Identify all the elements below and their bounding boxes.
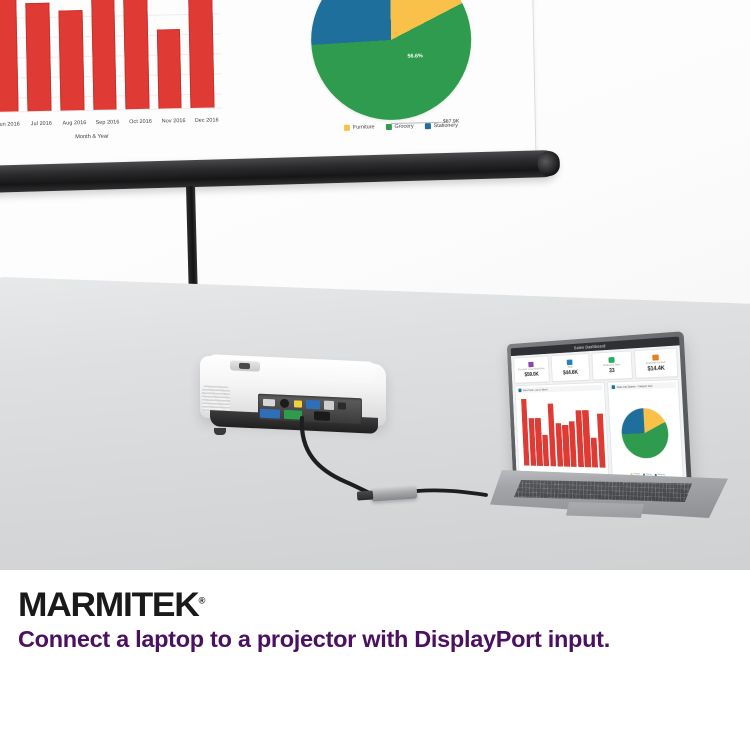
- legend-item: Furniture: [344, 124, 375, 131]
- bar-chart-bar: [123, 0, 149, 109]
- trend-x-label: Aug 2016: [571, 461, 577, 469]
- bar-chart-x-label: Jul 2016: [29, 121, 53, 127]
- pie-disc: [310, 0, 473, 122]
- projected-bar-chart: May 2016Jun 2016Jul 2016Aug 2016Sep 2016…: [0, 0, 223, 147]
- legend-swatch-icon: [344, 125, 350, 131]
- trend-x-label: Jan 2016: [524, 460, 530, 468]
- trend-x-label: Dec 2016: [599, 462, 606, 470]
- kpi-card[interactable]: Expenses Incurred$14.4K: [634, 347, 679, 378]
- laptop: Sales Dashboard This Month vs Last Month…: [470, 330, 732, 530]
- trend-x-label: Nov 2016: [592, 462, 598, 470]
- projector-foot: [214, 428, 226, 435]
- port-audio: [294, 400, 302, 407]
- kpi-label: Profit: [568, 366, 573, 369]
- expense-icon: [652, 354, 659, 360]
- sales-trend-panel-header: Sales Trend - Last 12 Month: [517, 385, 603, 393]
- legend-swatch-icon: [385, 124, 391, 130]
- trend-bar: [535, 418, 543, 466]
- bar-chart-x-label: Aug 2016: [62, 120, 86, 126]
- legend-label: Stationery: [434, 123, 458, 129]
- bar-chart-bar: [58, 10, 84, 111]
- kpi-label: Numbers of Sales: [603, 363, 620, 367]
- sales-trend-title: Sales Trend - Last 12 Month: [523, 388, 548, 391]
- trend-x-label: Feb 2016: [531, 460, 537, 468]
- category-pie-panel-header: Sales Last Quarter - Category wise: [610, 382, 676, 390]
- bar-chart-bar: [189, 0, 215, 108]
- bar-chart-bar: [26, 2, 52, 111]
- sales-dashboard: Sales Dashboard This Month vs Last Month…: [511, 337, 687, 483]
- port-power: [314, 411, 330, 421]
- bar-chart-x-label: Jun 2016: [0, 121, 20, 127]
- pie-chart-legend: FurnitureGroceryStationery: [305, 122, 497, 132]
- port-vga-2: [260, 409, 280, 419]
- projector-vent: [202, 385, 230, 412]
- pie-badge-icon: [612, 385, 616, 389]
- product-photo: May 2016Jun 2016Jul 2016Aug 2016Sep 2016…: [0, 0, 750, 570]
- sales-trend-bars: [521, 394, 606, 468]
- bar-chart-axis-title: Month & Year: [0, 131, 223, 142]
- port-video: [280, 399, 289, 408]
- category-pie-title: Sales Last Quarter - Category wise: [617, 384, 653, 388]
- marmitek-logo-text: MARMITEK: [18, 586, 199, 624]
- bar-chart-x-label: Oct 2016: [128, 119, 152, 125]
- marmitek-logo: MARMITEK®: [18, 586, 205, 625]
- kpi-value: $14.4K: [647, 365, 664, 373]
- bar-chart-bar: [91, 0, 117, 110]
- bar-chart-x-label: Sep 2016: [95, 119, 119, 125]
- port-usb: [338, 402, 346, 409]
- sales-trend-panel: Sales Trend - Last 12 Month Jan 2016Feb …: [515, 382, 610, 477]
- roller-end-cap: [537, 151, 560, 177]
- trend-x-label: Apr 2016: [544, 460, 550, 468]
- port-hdmi: [263, 399, 275, 407]
- dashboard-panels: Sales Trend - Last 12 Month Jan 2016Feb …: [515, 379, 684, 480]
- port-component: [284, 410, 302, 420]
- bar-chart-bar: [157, 30, 182, 109]
- adapter-connector-tip: [357, 490, 374, 500]
- trend-x-label: May 2016: [550, 461, 556, 469]
- category-pie-panel: Sales Last Quarter - Category wise Furni…: [607, 379, 684, 480]
- tagline: Connect a laptop to a projector with Dis…: [18, 626, 610, 653]
- pie-slice-label-grocery: 56.6%: [407, 53, 422, 59]
- legend-label: Grocery: [394, 123, 413, 129]
- kpi-card[interactable]: Numbers of Sales33: [591, 350, 633, 380]
- projected-pie-chart: 17.7% 56.6% 25.7% $40.0K $87.9K Furnitur…: [287, 0, 511, 156]
- kpi-value: $44.6K: [563, 369, 578, 376]
- product-scene: May 2016Jun 2016Jul 2016Aug 2016Sep 2016…: [0, 0, 750, 750]
- projector: [200, 356, 400, 450]
- registered-trademark-icon: ®: [199, 596, 206, 606]
- bar-chart-x-labels: May 2016Jun 2016Jul 2016Aug 2016Sep 2016…: [0, 117, 219, 128]
- legend-label: Furniture: [353, 124, 375, 130]
- bar-chart-x-label: Nov 2016: [162, 118, 186, 124]
- legend-swatch-icon: [425, 123, 431, 129]
- bar-chart-bars: [0, 0, 214, 113]
- trend-bar: [597, 414, 606, 468]
- projector-port-panel: [258, 394, 362, 425]
- trend-bar: [548, 404, 557, 466]
- port-lan: [324, 401, 334, 410]
- profit-icon: [567, 359, 573, 365]
- briefcase-icon: [528, 362, 533, 368]
- category-pie-disc: [620, 408, 669, 459]
- laptop-display: Sales Dashboard This Month vs Last Month…: [511, 337, 687, 483]
- laptop-lid: Sales Dashboard This Month vs Last Month…: [507, 331, 692, 490]
- legend-item: Stationery: [425, 123, 458, 130]
- caption-block: MARMITEK® Connect a laptop to a projecto…: [0, 570, 750, 750]
- kpi-value: 33: [609, 367, 615, 374]
- chart-badge-icon: [518, 389, 521, 393]
- bars-icon: [608, 357, 614, 363]
- kpi-card[interactable]: This Month vs Last Month Sales$59.0K: [513, 355, 550, 383]
- laptop-trackpad: [566, 502, 644, 518]
- bar-chart-bar: [0, 0, 19, 112]
- legend-item: Grocery: [385, 123, 413, 130]
- bar-chart-x-label: Dec 2016: [195, 117, 219, 123]
- kpi-value: $59.0K: [524, 371, 538, 378]
- kpi-card[interactable]: Profit$44.6K: [551, 353, 590, 382]
- port-vga: [306, 400, 320, 410]
- projector-lens: [230, 360, 260, 371]
